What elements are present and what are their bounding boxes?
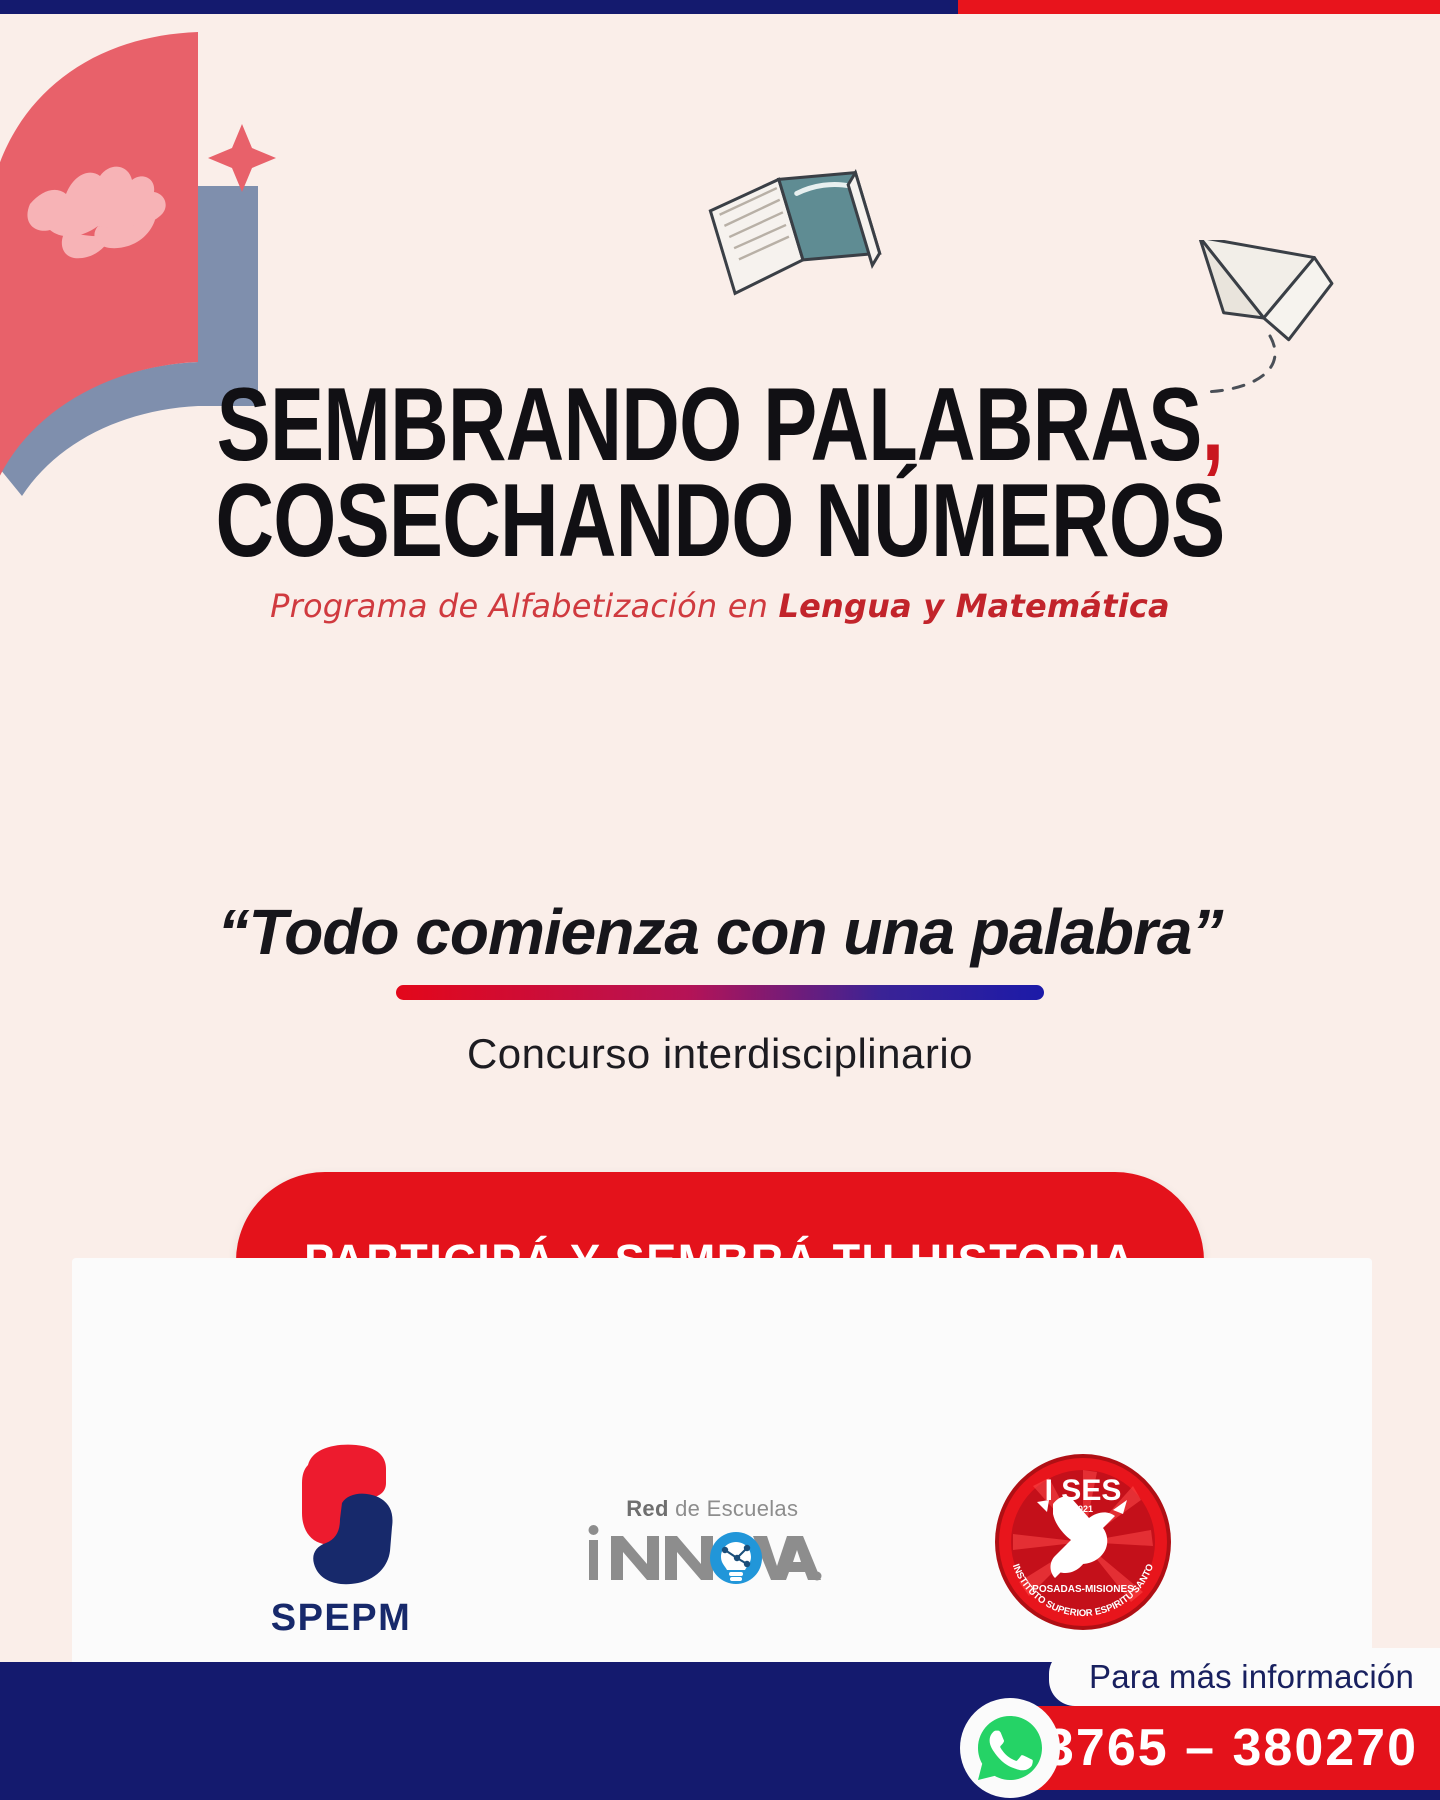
sponsor-logo-row: SPEPM Red de Escuelas bbox=[72, 1443, 1372, 1640]
svg-text:2021: 2021 bbox=[1073, 1504, 1093, 1514]
whatsapp-icon[interactable] bbox=[960, 1698, 1060, 1798]
top-bar-red-segment bbox=[958, 0, 1440, 14]
program-subtitle-prefix: Programa de Alfabetización en bbox=[270, 587, 778, 625]
spepm-wordmark: SPEPM bbox=[271, 1597, 412, 1640]
poster-root: SEMBRANDO PALABRAS, COSECHANDO NÚMEROS P… bbox=[0, 0, 1440, 1800]
floating-book-icon bbox=[700, 165, 890, 300]
ises-seal-icon: I SES 2021 POSADAS-MISIONES INSTITUTO SU… bbox=[993, 1452, 1173, 1632]
svg-text:POSADAS-MISIONES: POSADAS-MISIONES bbox=[1032, 1584, 1134, 1595]
contest-subtitle: Concurso interdisciplinario bbox=[0, 1030, 1440, 1078]
gradient-divider bbox=[396, 985, 1044, 1000]
program-subtitle: Programa de Alfabetización en Lengua y M… bbox=[60, 587, 1380, 625]
spepm-mark-icon bbox=[282, 1443, 400, 1593]
contact-info-label: Para más información bbox=[1049, 1648, 1440, 1706]
headline-block: SEMBRANDO PALABRAS, COSECHANDO NÚMEROS P… bbox=[0, 378, 1440, 625]
logo-innova: Red de Escuelas bbox=[581, 1496, 823, 1588]
headline-line-1: SEMBRANDO PALABRAS, bbox=[205, 378, 1235, 474]
innova-wordmark-icon bbox=[581, 1518, 823, 1588]
logo-ises: I SES 2021 POSADAS-MISIONES INSTITUTO SU… bbox=[993, 1452, 1173, 1632]
quote-text: “Todo comienza con una palabra” bbox=[0, 895, 1440, 969]
logo-spepm: SPEPM bbox=[271, 1443, 412, 1640]
contact-phone-number: 3765 – 380270 bbox=[1045, 1706, 1418, 1790]
svg-text:I SES: I SES bbox=[1045, 1474, 1122, 1507]
program-subtitle-highlight: Lengua y Matemática bbox=[779, 587, 1170, 625]
top-bar-navy-segment bbox=[0, 0, 958, 14]
headline-line-2: COSECHANDO NÚMEROS bbox=[205, 474, 1235, 570]
top-color-bar bbox=[0, 0, 1440, 14]
